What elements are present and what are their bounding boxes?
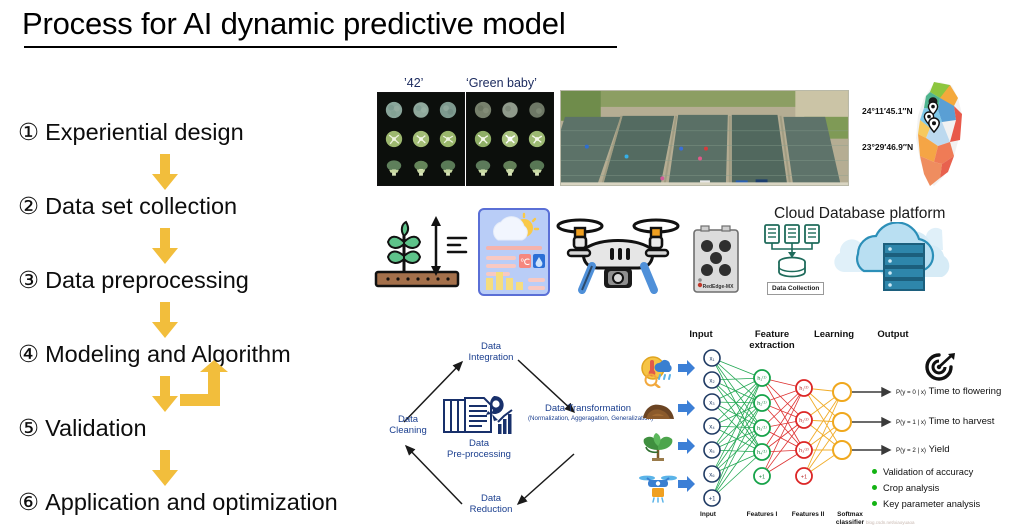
output-prob-0: P(y = 0 | x) [896,389,926,396]
svg-text:x₆: x₆ [709,473,715,479]
step-label-5: Validation [45,415,146,441]
nn-footer-features-2-text: Features II [792,511,825,518]
plant-height-icon [374,212,470,294]
nn-header-input: Input [678,330,724,341]
step-number-5: ⑤ [18,414,39,442]
svg-text:h₂⁽¹⁾: h₂⁽¹⁾ [757,401,767,407]
step-number-3: ③ [18,266,39,294]
cycle-node-cleaning-line2: Cleaning [389,425,427,436]
broccoli-sample [498,126,523,153]
analysis-bullet-text-0: Validation of accuracy [883,467,973,477]
cycle-node-integration-line2: Integration [469,352,514,363]
step-item-4[interactable]: ④Modeling and Algorithm [18,340,291,368]
taiwan-map [900,80,978,192]
nn-footer-features-2: Features II [784,511,832,519]
output-prob-2: P(y = 2 | x) [896,447,926,454]
cycle-node-cleaning-line1: Data [398,414,418,425]
broccoli-sample [435,154,460,181]
cloud-database-icon [828,222,964,300]
cycle-node-reduction: Data Reduction [456,494,526,516]
flow-arrow-1-2 [152,154,178,192]
data-collection-icon [762,222,822,280]
broccoli-sample [435,126,460,153]
output-text-0: Time to flowering [929,386,1002,397]
flow-arrow-3-4 [152,302,178,340]
svg-text:h₃⁽¹⁾: h₃⁽¹⁾ [757,426,767,432]
cycle-center-label: Data Pre-processing [442,438,516,461]
svg-text:+1: +1 [759,475,765,481]
nn-header-output-text: Output [877,329,908,340]
multispectral-sensor-icon: RedEdge-MX [692,224,740,296]
analysis-bullet-1: Crop analysis [872,483,939,493]
nn-header-feature-line1: Feature [755,329,789,340]
svg-text:x₄: x₄ [709,425,715,431]
aerial-field-photo [560,90,849,186]
watermark-text: blog.csdn.net/xiaoyuaoa [866,520,915,525]
flow-arrow-5-6 [152,450,178,488]
step-label-2: Data set collection [45,193,237,219]
broccoli-sample [498,97,523,124]
svg-text:+1: +1 [709,497,717,503]
drone-icon [556,210,680,298]
broccoli-sample [498,154,523,181]
svg-text:+1: +1 [801,475,807,481]
analysis-bullet-text-2: Key parameter analysis [883,499,980,509]
crop-plant-icon [638,430,678,464]
flow-arrow-2-3 [152,228,178,266]
nn-footer-softmax-line2: classifier [836,519,864,526]
output-arrows [852,385,892,465]
step-label-6: Application and optimization [45,489,338,515]
nn-footer-input-text: Input [700,511,716,518]
step-item-1[interactable]: ①Experiential design [18,118,244,146]
broccoli-sample [382,154,407,181]
cultivar-label-42: ’42’ [404,76,423,90]
broccoli-sample [409,126,434,153]
neural-network-graph: x₁x₂x₃ x₄x₅x₆+1 h₁⁽¹⁾h₂⁽¹⁾h₃⁽¹⁾ h₄⁽¹⁾+1 … [694,348,854,510]
svg-text:h₃⁽²⁾: h₃⁽²⁾ [799,448,809,454]
svg-text:x₅: x₅ [709,449,715,455]
svg-text:h₁⁽²⁾: h₁⁽²⁾ [799,386,808,392]
broccoli-sample [524,126,549,153]
cycle-node-reduction-line2: Reduction [470,504,513,515]
nn-header-learning-text: Learning [814,329,854,340]
nn-header-learning: Learning [806,330,862,341]
cycle-node-integration-line1: Data [481,341,501,352]
cultivar-label-green-baby: ‘Green baby’ [466,76,537,90]
step-item-2[interactable]: ②Data set collection [18,192,237,220]
bullet-dot-icon [872,469,877,474]
broccoli-sample [524,97,549,124]
svg-text:x₃: x₃ [709,401,715,407]
broccoli-sample [409,154,434,181]
cycle-center-line2: Pre-processing [447,449,511,460]
data-collection-label: Data Collection [767,282,824,295]
output-line-flowering: P(y = 0 | x) Time to flowering [896,386,1001,397]
broccoli-sample [471,97,496,124]
svg-text:x₁: x₁ [709,357,714,363]
target-dart-icon [922,352,956,384]
analysis-bullet-2: Key parameter analysis [872,499,980,509]
nn-footer-features-1-text: Features I [747,511,778,518]
broccoli-panel-green-baby [466,92,554,186]
broccoli-sample [382,126,407,153]
broccoli-sample [471,154,496,181]
output-text-1: Time to harvest [929,416,995,427]
svg-text:℃: ℃ [520,257,530,267]
cycle-center-line1: Data [469,438,489,449]
page-title: Process for AI dynamic predictive model [22,6,566,42]
step-number-2: ② [18,192,39,220]
step-label-3: Data preprocessing [45,267,249,293]
soil-icon [640,400,676,424]
step-number-6: ⑥ [18,488,39,516]
step-item-5[interactable]: ⑤Validation [18,414,147,442]
broccoli-sample [435,97,460,124]
broccoli-sample [382,97,407,124]
step-number-4: ④ [18,340,39,368]
broccoli-sample [471,126,496,153]
drone-spray-icon [638,470,678,504]
analysis-bullet-text-1: Crop analysis [883,483,939,493]
output-line-yield: P(y = 2 | x) Yield [896,444,950,455]
bullet-dot-icon [872,485,877,490]
nn-footer-features-1: Features I [738,511,786,519]
bullet-dot-icon [872,501,877,506]
flow-arrow-4-5 [152,376,178,414]
step-item-3[interactable]: ③Data preprocessing [18,266,249,294]
output-line-harvest: P(y = 1 | x) Time to harvest [896,416,994,427]
svg-text:h₂⁽²⁾: h₂⁽²⁾ [799,418,809,424]
broccoli-sample [524,154,549,181]
svg-text:h₁⁽¹⁾: h₁⁽¹⁾ [757,376,766,382]
output-prob-1: P(y = 1 | x) [896,419,926,426]
cycle-node-transformation: Data Transformation (Normalization, Agge… [528,404,648,422]
map-coordinate-south: 23°29′46.9″N [862,142,913,152]
cycle-node-integration: Data Integration [456,342,526,364]
nn-footer-input: Input [688,511,728,519]
broccoli-panel-42 [377,92,465,186]
cycle-node-cleaning: Data Cleaning [379,415,437,437]
weather-climate-icon [640,356,676,388]
feedback-loop-arrow [180,360,234,427]
broccoli-sample [409,97,434,124]
cycle-node-transformation-line1: Data Transformation [545,403,631,414]
nn-footer-softmax-line1: Softmax [837,511,863,518]
cycle-node-reduction-line1: Data [481,493,501,504]
cloud-database-title: Cloud Database platform [774,205,945,223]
svg-text:h₄⁽¹⁾: h₄⁽¹⁾ [757,450,767,456]
svg-text:x₂: x₂ [709,379,715,385]
step-number-1: ① [18,118,39,146]
cycle-node-transformation-sub: (Normalization, Aggeragation, Generaliza… [528,415,648,422]
analysis-bullet-0: Validation of accuracy [872,467,973,477]
step-label-1: Experiential design [45,119,244,145]
nn-header-output: Output [868,330,918,341]
step-item-6[interactable]: ⑥Application and optimization [18,488,338,516]
nn-header-input-text: Input [689,329,712,340]
weather-data-icon: ℃ [478,208,550,296]
output-text-2: Yield [929,444,950,455]
sensor-model-text: RedEdge-MX [703,284,735,290]
map-coordinate-north: 24°11′45.1″N [862,106,913,116]
step-label-4: Modeling and Algorithm [45,341,291,367]
document-gear-chart-icon [442,392,516,436]
title-underline [24,46,617,48]
